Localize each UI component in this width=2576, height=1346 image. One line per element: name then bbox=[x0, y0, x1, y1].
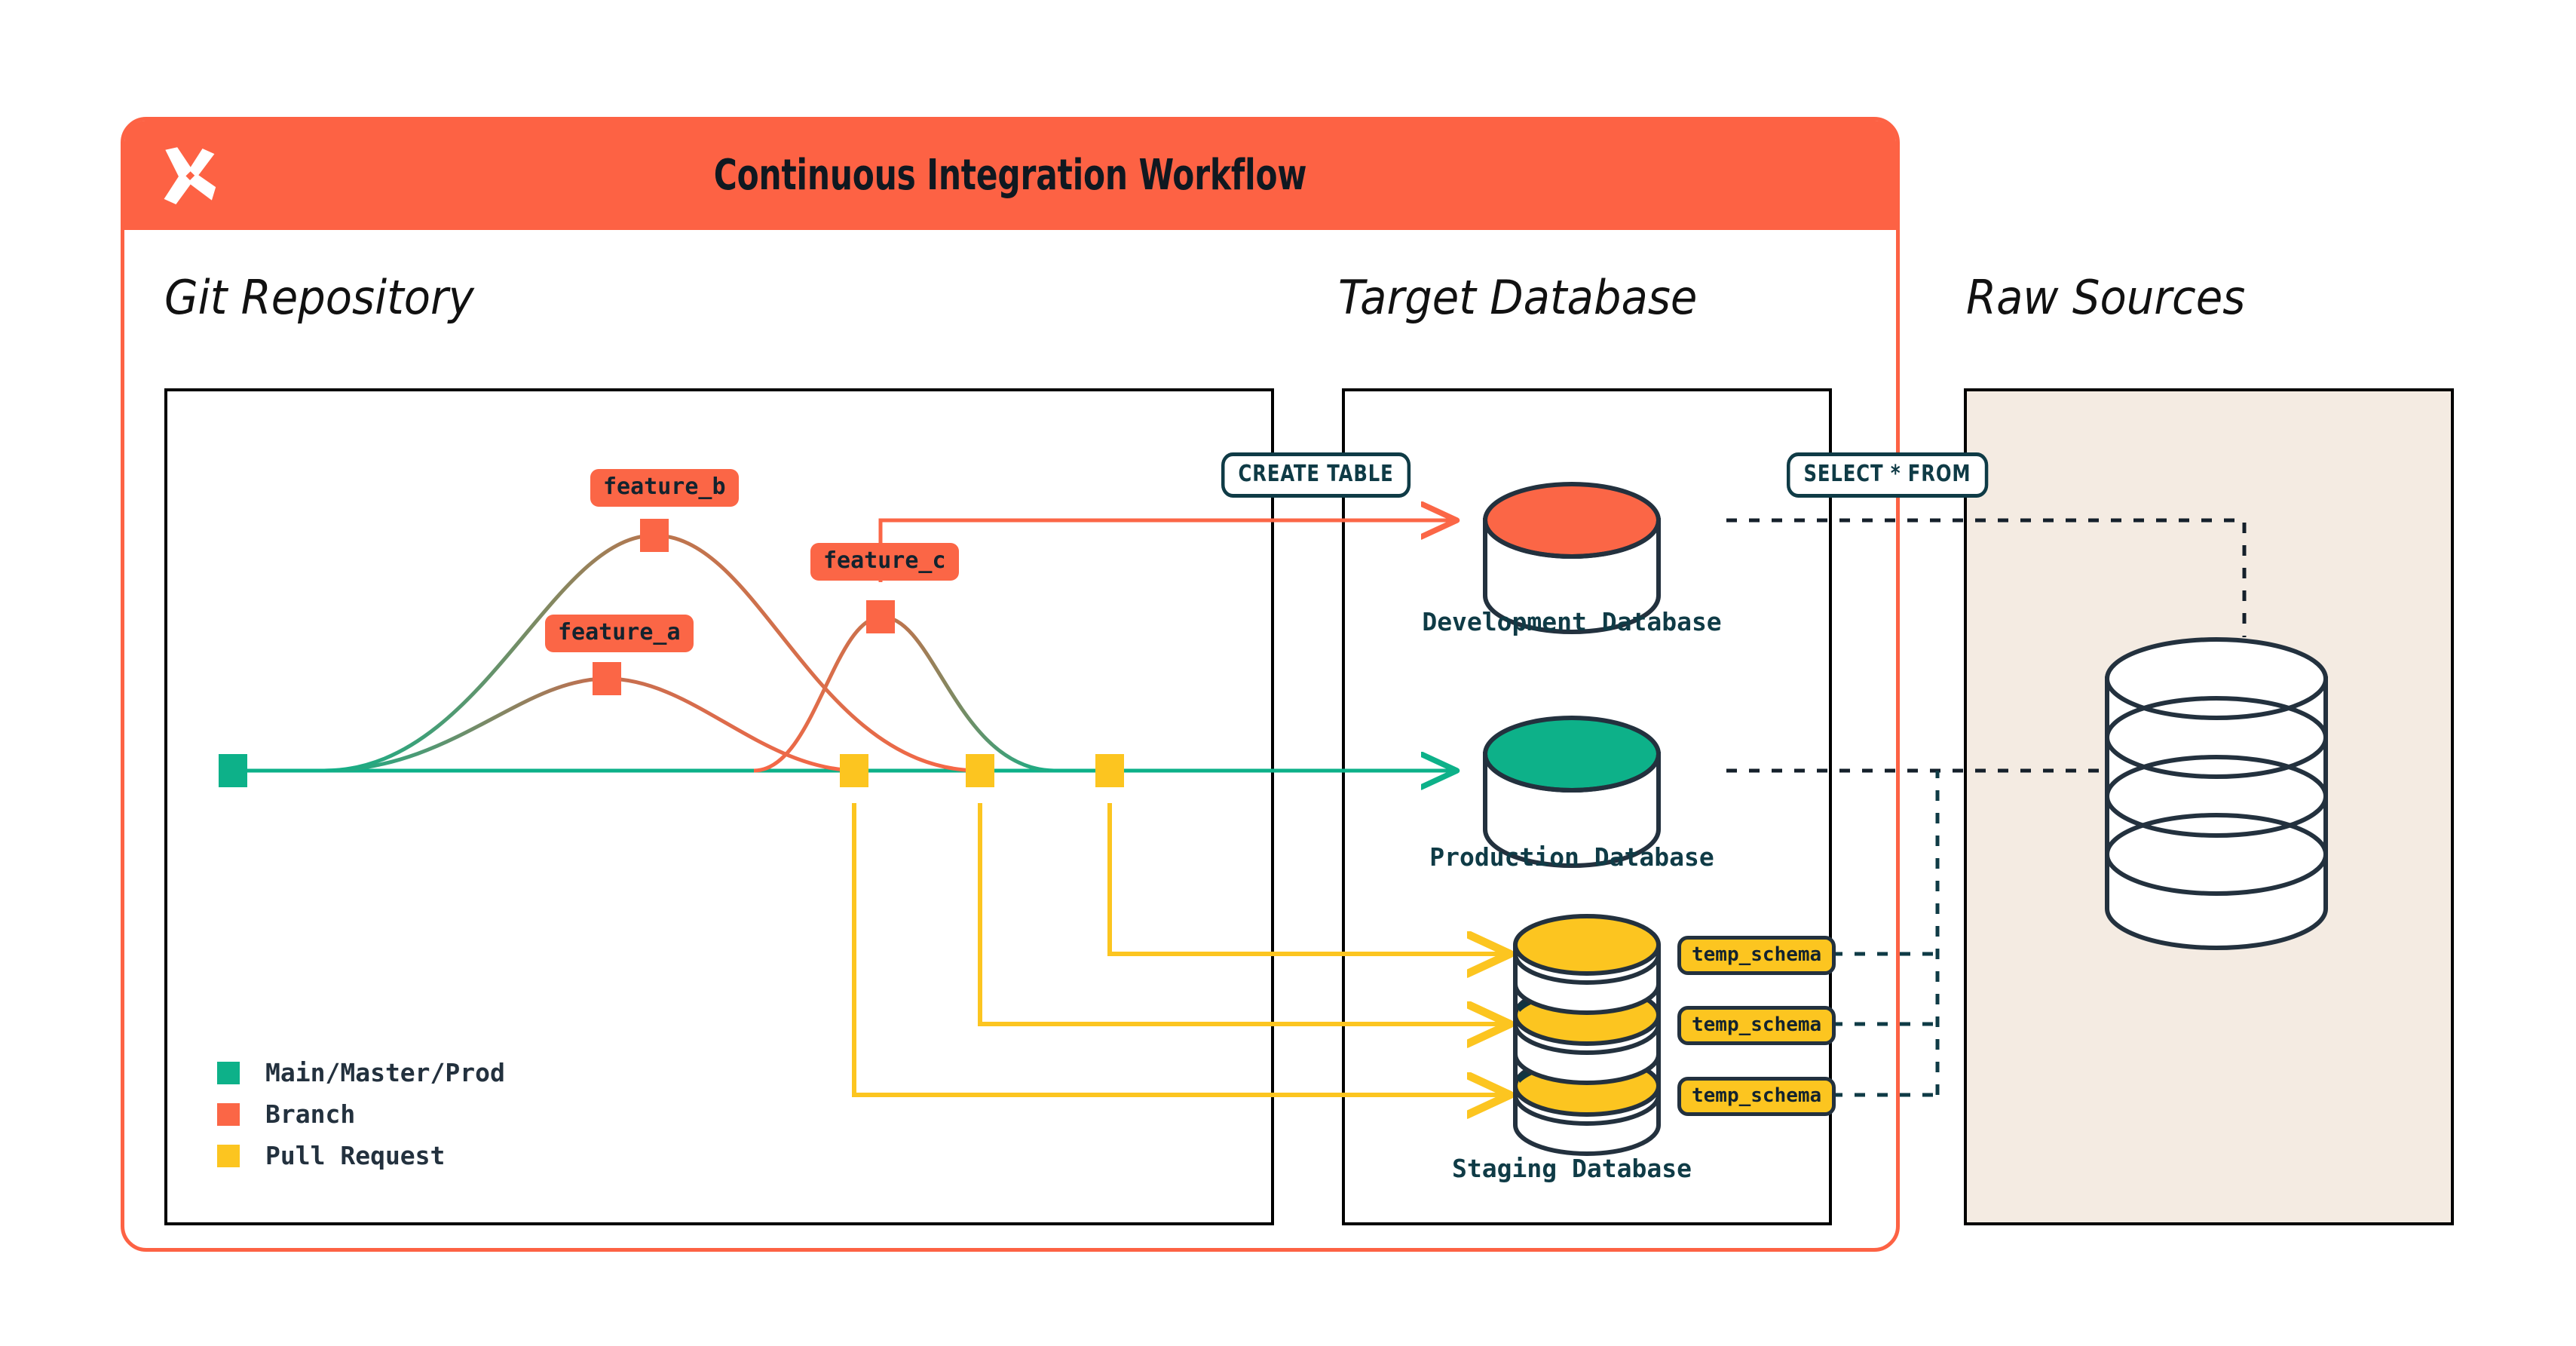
feature-c-branch-arc bbox=[754, 617, 1055, 771]
commit-node-feature-b[interactable] bbox=[640, 519, 669, 552]
branch-label-feature-a[interactable]: feature_a bbox=[545, 615, 694, 652]
legend-swatch-main bbox=[217, 1062, 240, 1084]
schema-label-temp-schema-1[interactable]: temp_schema bbox=[1677, 936, 1836, 975]
raw-sources-stack-icon bbox=[2107, 639, 2326, 948]
staging-database-icon bbox=[1515, 916, 1659, 1154]
legend: Main/Master/Prod Branch Pull Request bbox=[217, 1052, 505, 1176]
branch-label-feature-c[interactable]: feature_c bbox=[810, 543, 959, 581]
db-caption-development: Development Database bbox=[1422, 607, 1721, 636]
commit-node-pull-request-2[interactable] bbox=[966, 754, 994, 787]
legend-label-pull-request: Pull Request bbox=[265, 1141, 445, 1170]
branch-label-feature-b[interactable]: feature_b bbox=[590, 469, 739, 507]
commit-node-main[interactable] bbox=[219, 754, 247, 787]
sql-badge-create-table[interactable]: CREATE TABLE bbox=[1221, 452, 1411, 498]
commit-node-feature-c[interactable] bbox=[866, 600, 895, 633]
sql-badge-select-from[interactable]: SELECT * FROM bbox=[1787, 452, 1988, 498]
legend-label-branch: Branch bbox=[265, 1099, 355, 1129]
legend-swatch-branch bbox=[217, 1103, 240, 1126]
legend-item-pull-request: Pull Request bbox=[217, 1135, 505, 1176]
commit-node-pull-request-1[interactable] bbox=[840, 754, 868, 787]
pr-to-staging-line-2 bbox=[980, 803, 1508, 1024]
legend-item-main: Main/Master/Prod bbox=[217, 1052, 505, 1093]
create-table-flow-line bbox=[881, 520, 1455, 582]
commit-node-pull-request-3[interactable] bbox=[1095, 754, 1124, 787]
pr-to-staging-line-1 bbox=[854, 803, 1508, 1095]
db-caption-production: Production Database bbox=[1429, 842, 1714, 872]
db-caption-staging: Staging Database bbox=[1452, 1154, 1692, 1183]
schema-label-temp-schema-3[interactable]: temp_schema bbox=[1677, 1077, 1836, 1116]
legend-label-main: Main/Master/Prod bbox=[265, 1058, 505, 1087]
dev-to-raw-dotted-line bbox=[1726, 520, 2244, 637]
schema-label-temp-schema-2[interactable]: temp_schema bbox=[1677, 1006, 1836, 1045]
pr-to-staging-line-3 bbox=[1110, 803, 1508, 954]
legend-swatch-pull-request bbox=[217, 1145, 240, 1167]
commit-node-feature-a[interactable] bbox=[593, 662, 621, 695]
legend-item-branch: Branch bbox=[217, 1093, 505, 1135]
feature-a-branch-arc bbox=[324, 679, 859, 771]
